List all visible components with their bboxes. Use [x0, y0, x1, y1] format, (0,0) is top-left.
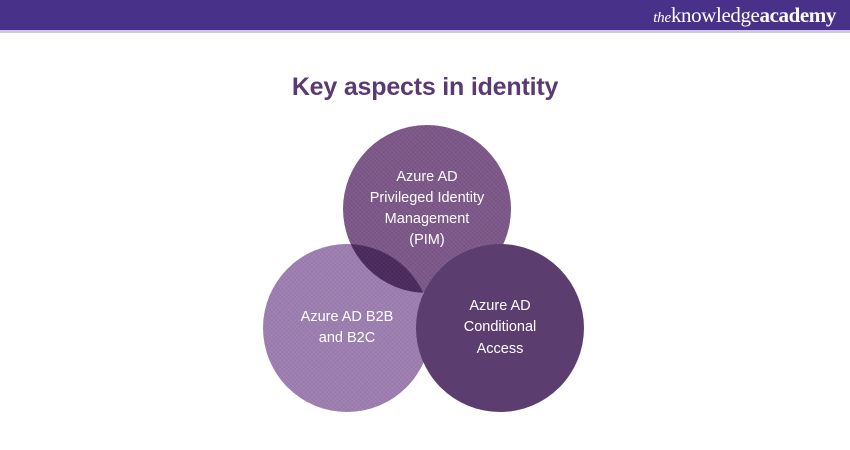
brand-logo: theknowledgeacademy [653, 5, 836, 26]
venn-circle-conditional-access: Azure AD Conditional Access [416, 244, 584, 412]
venn-circle-label-conditional-access: Azure AD Conditional Access [450, 296, 551, 359]
header-divider [0, 30, 850, 33]
logo-text-knowledge: knowledge [671, 5, 760, 26]
venn-diagram: Azure AD Privileged Identity Management … [263, 125, 583, 413]
page-title: Key aspects in identity [0, 73, 850, 102]
logo-text-the: the [653, 11, 671, 26]
logo-text-academy: academy [759, 5, 836, 26]
venn-circle-label-b2b-b2c: Azure AD B2B and B2C [287, 307, 408, 349]
venn-circle-b2b-and-b2c: Azure AD B2B and B2C [263, 244, 431, 412]
venn-circle-label-pim: Azure AD Privileged Identity Management … [356, 167, 498, 251]
header-band: theknowledgeacademy [0, 0, 850, 30]
